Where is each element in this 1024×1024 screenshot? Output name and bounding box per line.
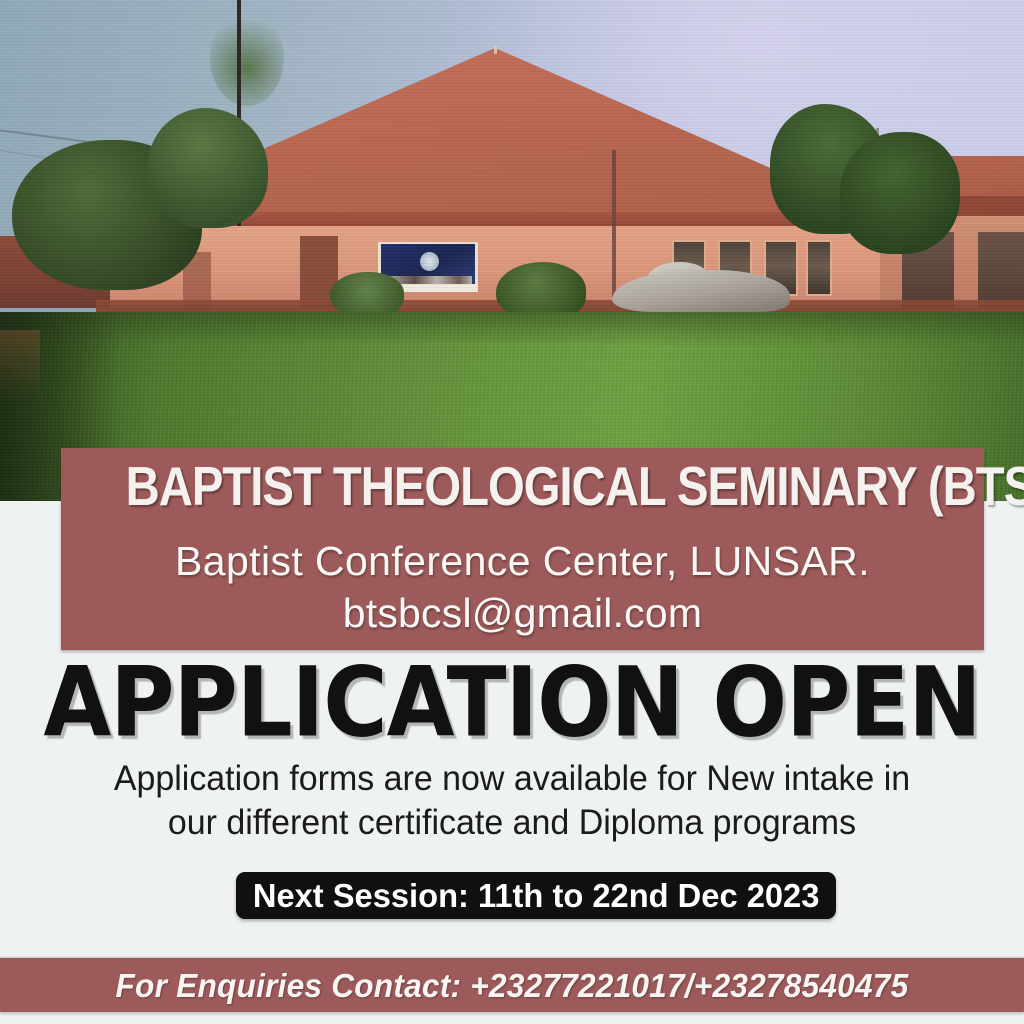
footer-bottom-strip: [0, 1012, 1024, 1024]
roof-ridge: [494, 46, 497, 54]
organization-email[interactable]: btsbcsl@gmail.com: [61, 588, 984, 638]
announcement-line-2: our different certificate and Diploma pr…: [76, 801, 949, 845]
tree: [840, 132, 960, 254]
announcement-line-1: Application forms are now available for …: [76, 757, 949, 801]
page-title: APPLICATION OPEN: [0, 651, 1024, 754]
announcement-text: Application forms are now available for …: [76, 757, 949, 845]
building-window: [806, 240, 832, 296]
session-badge-label: Next Session: 11th to 22nd Dec 2023: [253, 879, 820, 912]
organization-header-band: BAPTIST THEOLOGICAL SEMINARY (BTS) Bapti…: [61, 448, 984, 650]
dirt-patch: [0, 330, 40, 400]
organization-title: BAPTIST THEOLOGICAL SEMINARY (BTS): [126, 456, 920, 516]
footer-contact-band: For Enquiries Contact: +23277221017/+232…: [0, 958, 1024, 1012]
organization-location: Baptist Conference Center, LUNSAR.: [61, 536, 984, 586]
building-archway: [978, 232, 1024, 308]
session-badge: Next Session: 11th to 22nd Dec 2023: [236, 872, 836, 919]
utility-pole: [612, 150, 616, 300]
tree: [148, 108, 268, 228]
tree: [210, 10, 284, 106]
footer-contact-text[interactable]: For Enquiries Contact: +23277221017/+232…: [116, 969, 909, 1002]
circular-emblem-icon: [420, 252, 439, 271]
flyer-canvas: BAPTIST THEOLOGICAL SEMINARY (BTS) Bapti…: [0, 0, 1024, 1024]
campus-photo: [0, 0, 1024, 501]
